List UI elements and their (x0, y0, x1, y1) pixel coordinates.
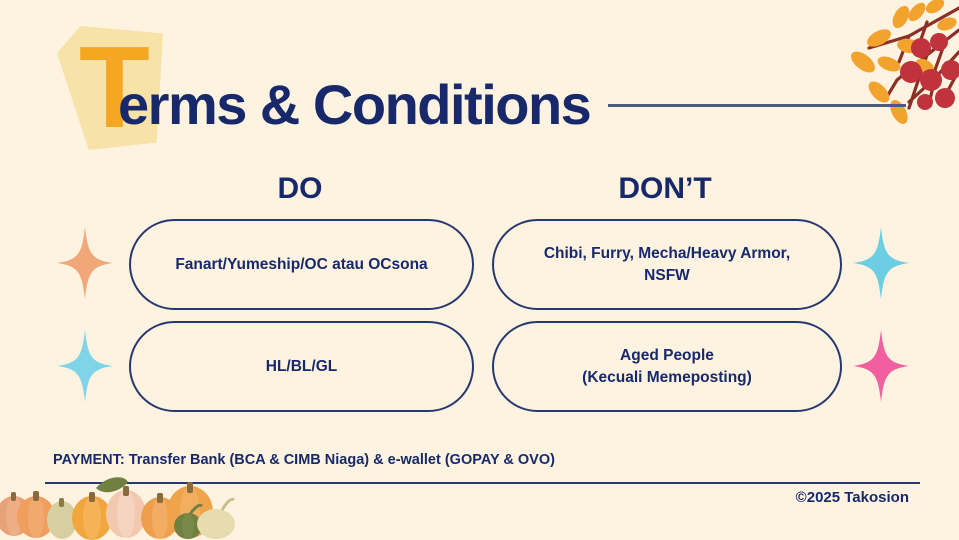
do-item-1[interactable]: Fanart/Yumeship/OC atau OCsona (129, 219, 474, 310)
do-item-2-label: HL/BL/GL (266, 356, 337, 378)
copyright-notice: ©2025 Takosion (796, 489, 909, 506)
sparkle-right-top-icon (853, 227, 909, 299)
do-item-1-label: Fanart/Yumeship/OC atau OCsona (175, 254, 427, 276)
column-header-do: DO (255, 172, 345, 206)
slide-canvas: T erms & Conditions DO DON’T Fanart/Yume… (0, 0, 959, 540)
payment-info: PAYMENT: Transfer Bank (BCA & CIMB Niaga… (53, 452, 555, 468)
dont-item-2-label: Aged People (Kecuali Memeposting) (582, 345, 752, 389)
dont-item-1-label: Chibi, Furry, Mecha/Heavy Armor, NSFW (544, 243, 790, 287)
do-item-2[interactable]: HL/BL/GL (129, 321, 474, 412)
sparkle-left-top-icon (57, 227, 113, 299)
column-header-dont: DON’T (590, 172, 740, 206)
dont-item-1-line1: Chibi, Furry, Mecha/Heavy Armor, (544, 245, 790, 262)
title-divider (608, 104, 906, 107)
dont-item-1-line2: NSFW (644, 267, 690, 284)
dont-item-2-line1: Aged People (620, 347, 714, 364)
sparkle-left-bottom-icon (57, 330, 113, 402)
dont-item-2[interactable]: Aged People (Kecuali Memeposting) (492, 321, 842, 412)
autumn-branch-icon (759, 0, 959, 135)
page-title: erms & Conditions (118, 76, 590, 134)
dont-item-1[interactable]: Chibi, Furry, Mecha/Heavy Armor, NSFW (492, 219, 842, 310)
dont-item-2-line2: (Kecuali Memeposting) (582, 369, 752, 386)
pumpkin-row-icon (0, 470, 235, 540)
sparkle-right-bottom-icon (853, 330, 909, 402)
